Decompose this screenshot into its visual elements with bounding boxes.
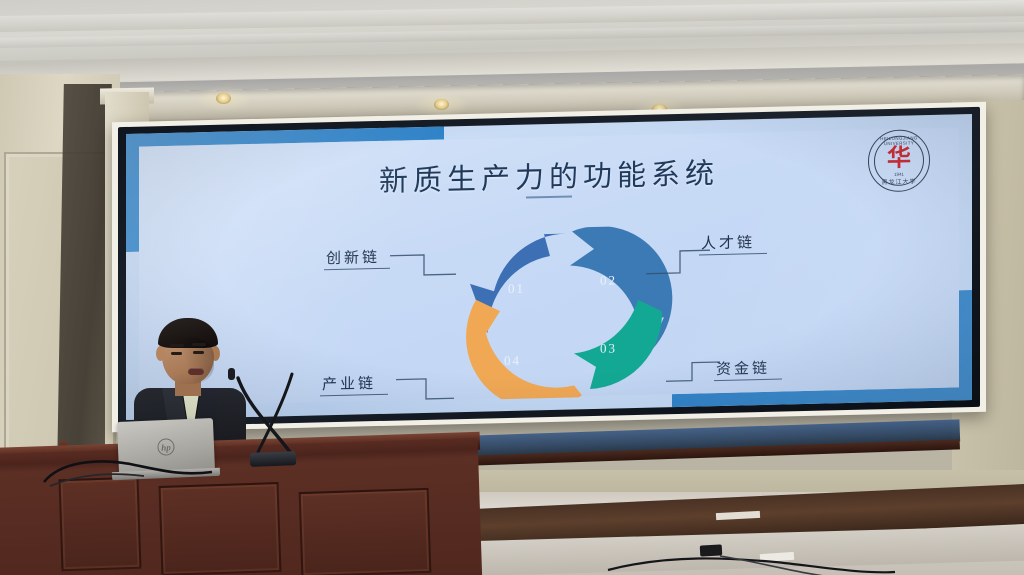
cycle-segment-03: 03 — [574, 299, 662, 389]
cycle-segment-02-number: 02 — [600, 272, 617, 287]
ceiling-downlight — [216, 93, 231, 104]
cycle-segment-04-number: 04 — [504, 353, 521, 368]
presenter-eyebrow — [192, 343, 206, 346]
cycle-label-03: 资金链 — [716, 357, 770, 379]
heilongjiang-university-seal-icon: HEILONGJIANG UNIVERSITY 华 1941 黑龙江大学 — [868, 129, 930, 192]
microphone-head — [228, 368, 235, 380]
lecture-hall-photo: 新质生产力的功能系统 HEILONGJIANG UNIVERSITY 华 194… — [0, 0, 1024, 575]
podium-panel — [159, 482, 282, 575]
ceiling-downlight — [434, 99, 449, 110]
cycle-label-01: 创新链 — [326, 246, 380, 268]
podium-panel — [299, 488, 432, 575]
cycle-segment-01-number: 01 — [508, 281, 525, 296]
seal-calligraphy-mark: 华 — [887, 146, 911, 171]
cycle-segment-04: 04 — [466, 297, 582, 400]
seal-bottom-text: 黑龙江大学 — [869, 176, 929, 186]
floor-cable — [600, 530, 900, 575]
cycle-label-02: 人才链 — [701, 231, 755, 253]
presenter-eye — [171, 352, 182, 355]
presenter-eyebrow — [170, 344, 184, 347]
cycle-segment-03-number: 03 — [600, 340, 617, 355]
presenter-mouth — [188, 368, 204, 375]
podium-cable — [40, 452, 220, 492]
microphone-base — [250, 451, 297, 467]
slide-accent-bar-right — [959, 290, 972, 400]
connector-01 — [388, 252, 458, 290]
presenter-eye — [193, 351, 204, 354]
cycle-label-04: 产业链 — [322, 372, 376, 394]
gooseneck-microphone — [232, 372, 296, 456]
connector-04 — [394, 376, 456, 403]
